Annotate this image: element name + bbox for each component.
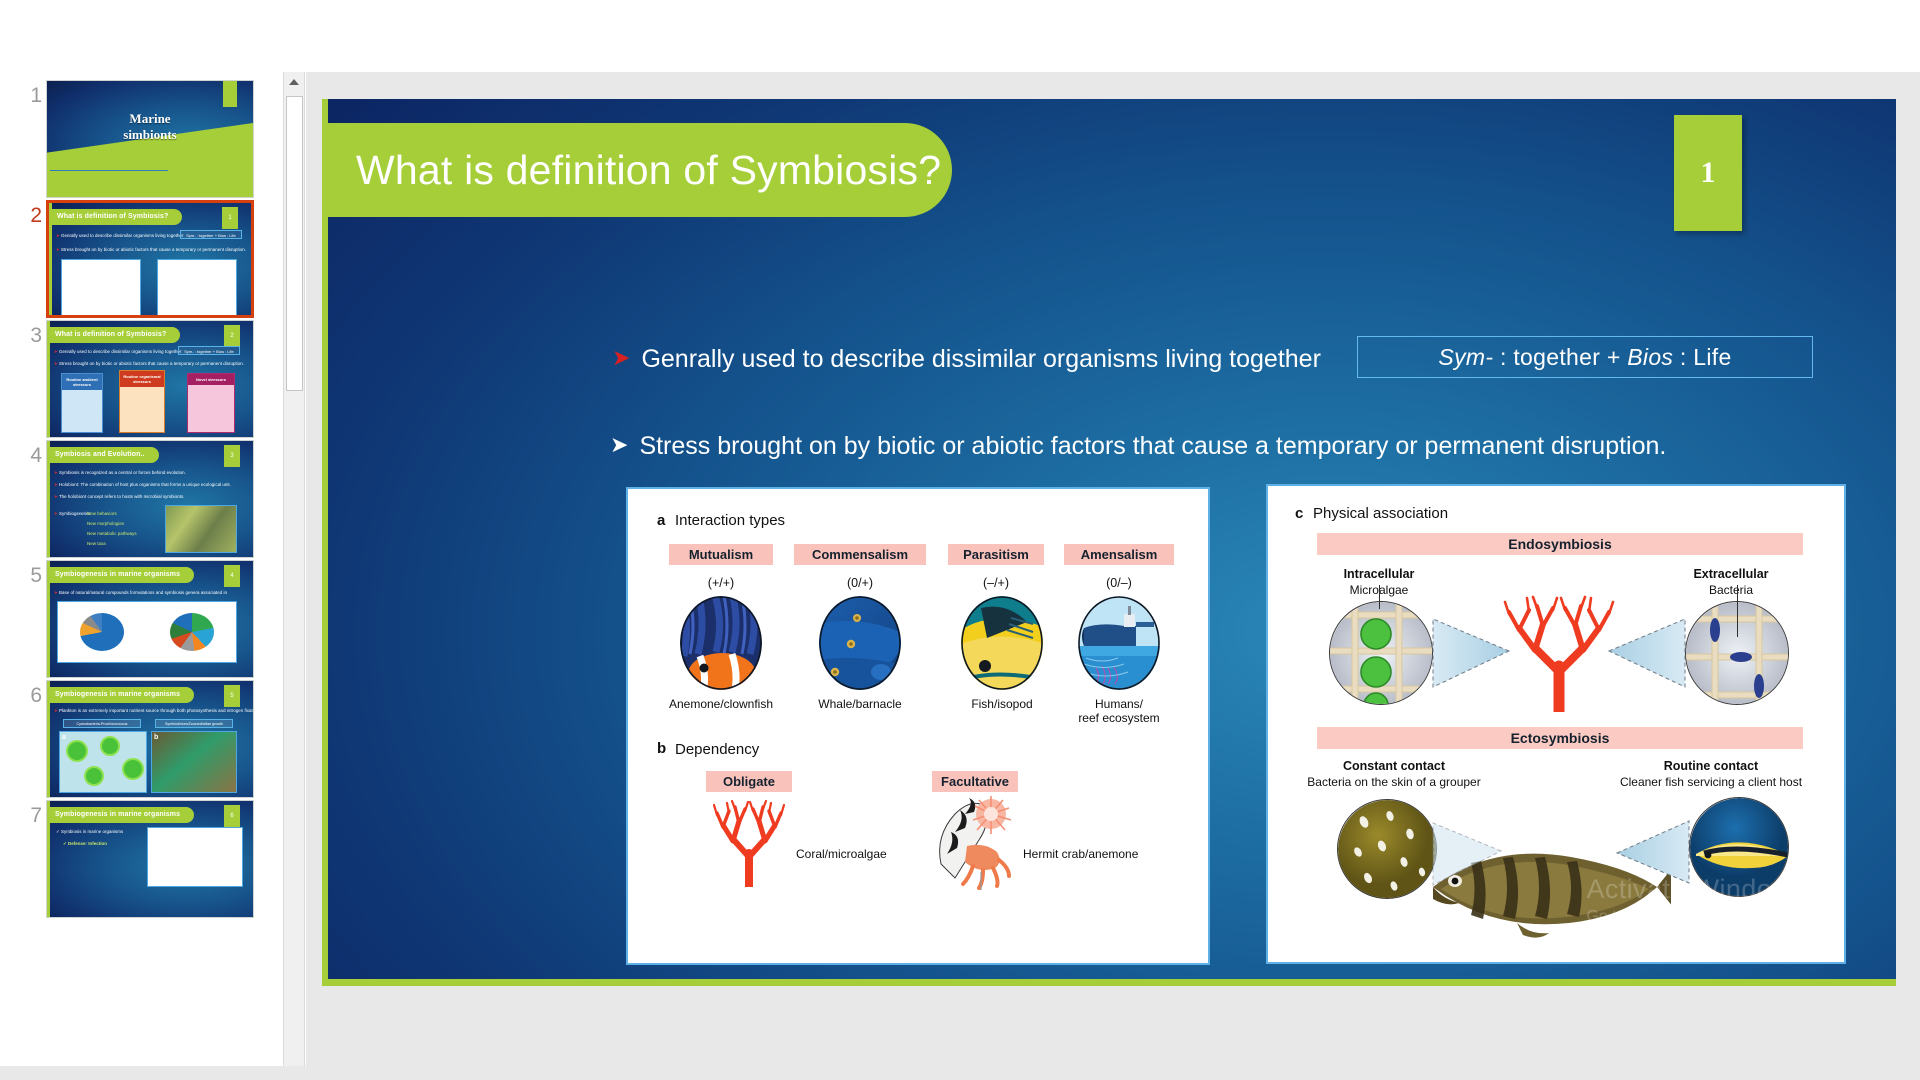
ship-reef-illustration xyxy=(1078,596,1160,690)
thumb-card-head: Routine ambient stressors xyxy=(62,374,102,390)
thumbnail-number: 4 xyxy=(16,444,42,468)
thumbnail-number: 3 xyxy=(16,324,42,348)
thumb-subitem: New behaviors xyxy=(87,511,117,516)
thumb-image-letter: b xyxy=(154,734,158,741)
bullet-text-2: Stress brought on by biotic or abiotic f… xyxy=(639,430,1666,462)
endo-right-bold-label: Extracellular xyxy=(1651,567,1811,581)
thumbnail-number: 5 xyxy=(16,564,42,588)
thumb-subitem: New taxa xyxy=(87,541,106,546)
interaction-caption-amensalism: Humans/ reef ecosystem xyxy=(1059,697,1179,725)
thumbnail-item[interactable]: 5 Symbiogenesis in marine organisms 4 ➤ … xyxy=(0,552,283,672)
thumbnail-item[interactable]: 7 Symbiogenesis in marine organisms 6 ✓ … xyxy=(0,792,283,912)
thumbnail-item[interactable]: 1 Marine simbionts xyxy=(0,72,283,192)
thumb-bullet-line: ➤ Symbiosis is recognized as a central o… xyxy=(54,470,186,476)
thumb-bullet-line: ➤ The holobiont concept refers to hosts … xyxy=(54,494,184,500)
slide-title-pill[interactable]: What is definition of Symbiosis? xyxy=(328,123,952,217)
thumb-bullet-text: The holobiont concept refers to hosts wi… xyxy=(59,494,184,499)
thumb-sym-text: Sym- : together + Bios : Life xyxy=(181,231,241,240)
thumb-canvas: Marine simbionts xyxy=(47,81,253,197)
cleaner-fish-circle xyxy=(1689,797,1789,897)
clownfish-anemone-photo xyxy=(680,596,762,690)
ectosymbiosis-band: Ectosymbiosis xyxy=(1317,727,1803,749)
scrollbar-thumb[interactable] xyxy=(286,96,303,391)
thumb-pie-chart-1 xyxy=(80,613,124,651)
thumb-bullet-line: ➤ Genrally used to describe dissimilar o… xyxy=(56,233,183,239)
endo-left-bold-label: Intracellular xyxy=(1299,567,1459,581)
thumbnail-number: 6 xyxy=(16,684,42,708)
bullet-row-1[interactable]: ➤ Genrally used to describe dissimilar o… xyxy=(612,343,1321,375)
dependency-chip-obligate: Obligate xyxy=(706,771,792,792)
thumb-subhead: ➤ Symbiogenesis: xyxy=(54,511,91,517)
etymology-box[interactable]: Sym- : together + Bios : Life xyxy=(1357,336,1813,378)
etymology-bios-italic: Bios xyxy=(1627,344,1673,370)
thumbnail-slide-3[interactable]: What is definition of Symbiosis? 2 ➤ Gen… xyxy=(46,320,254,438)
thumb-bullet-text: Holobiont: The combination of host plus … xyxy=(59,482,231,487)
thumb-sym-box: Sym- : together + Bios : Life xyxy=(180,230,242,239)
thumbnail-slide-2[interactable]: What is definition of Symbiosis? 1 ➤ Gen… xyxy=(46,200,254,318)
thumbnail-scrollbar[interactable] xyxy=(283,72,305,1080)
thumbnail-slide-1[interactable]: Marine simbionts xyxy=(46,80,254,198)
thumb-bullet-text: Stress brought on by biotic or abiotic f… xyxy=(61,247,246,252)
interaction-signs-mutualism: (+/+) xyxy=(669,576,773,590)
triangle-up-icon xyxy=(289,79,299,85)
page-title: What is definition of Symbiosis? xyxy=(328,147,941,194)
endo-right-leader-line xyxy=(1737,585,1738,637)
thumb-check-line: ✓ Symbiosis in marine organisms xyxy=(56,829,123,835)
thumb-chip-text: Cyanobacteria-Prochlorococcus xyxy=(64,720,140,729)
panel-a-letter: a xyxy=(657,512,665,529)
fish-isopod-photo xyxy=(961,596,1043,690)
thumb-title-line-2: simbionts xyxy=(47,127,253,143)
title-rule xyxy=(50,170,168,171)
thumb-canvas: Symbiogenesis in marine organisms 6 ✓ Sy… xyxy=(47,801,253,917)
current-slide[interactable]: What is definition of Symbiosis? 1 ➤ Gen… xyxy=(322,99,1896,986)
panel-c-letter: c xyxy=(1295,505,1303,522)
endo-right-magnifier-funnel xyxy=(1607,619,1687,689)
thumb-canvas: Symbiosis and Evolution.. 3 ➤ Symbiosis … xyxy=(47,441,253,557)
thumb-bullet-text: Base of natural/natural compounds formul… xyxy=(59,590,227,595)
thumb-title-line-1: Marine xyxy=(47,111,253,127)
thumbnail-slide-4[interactable]: Symbiosis and Evolution.. 3 ➤ Symbiosis … xyxy=(46,440,254,558)
thumb-card-head: Novel stressors xyxy=(188,374,234,385)
thumbnail-number: 1 xyxy=(16,84,42,108)
thumb-bullet-line: ➤ Base of natural/natural compounds form… xyxy=(54,590,227,596)
slide-bottom-green-edge xyxy=(322,979,1896,986)
interaction-signs-commensalism: (0/+) xyxy=(794,576,926,590)
thumb-bullet-text: Symbiosis is recognized as a central or … xyxy=(59,470,186,475)
interaction-chip-commensalism: Commensalism xyxy=(794,544,926,565)
figure-right-canvas: c Physical association Endosymbiosis Int… xyxy=(1271,489,1841,959)
panel-b-title: Dependency xyxy=(675,741,759,758)
figure-panel-right[interactable]: c Physical association Endosymbiosis Int… xyxy=(1266,484,1846,964)
endo-left-leader-line xyxy=(1379,585,1380,609)
powerpoint-window: 1 Marine simbionts 2 What is d xyxy=(0,0,1920,1080)
thumb-subhead-text: Symbiogenesis: xyxy=(59,511,91,516)
thumb-bullet-text: Stress brought on by biotic or abiotic f… xyxy=(59,361,244,366)
ecto-left-sub-label: Bacteria on the skin of a grouper xyxy=(1279,775,1509,789)
thumb-badge xyxy=(223,81,237,107)
thumb-chip-text: Symbiodinium/Zooxanthellae growth xyxy=(156,720,232,729)
thumbnail-slide-7[interactable]: Symbiogenesis in marine organisms 6 ✓ Sy… xyxy=(46,800,254,918)
panel-c-title: Physical association xyxy=(1313,505,1448,522)
thumb-canvas: Symbiogenesis in marine organisms 5 ➤ Pl… xyxy=(47,681,253,797)
endo-left-magnifier-funnel xyxy=(1431,619,1511,689)
thumb-title-text: Symbiosis and Evolution.. xyxy=(49,447,159,463)
thumb-title-text: Symbiogenesis in marine organisms xyxy=(49,567,194,583)
etymology-bios-rest: : Life xyxy=(1673,344,1731,370)
thumb-chip-left: Cyanobacteria-Prochlorococcus xyxy=(63,719,141,728)
ship-reef-photo xyxy=(1078,596,1160,690)
thumb-page-badge: 1 xyxy=(222,207,238,229)
thumbnail-number: 2 xyxy=(16,204,42,228)
top-band xyxy=(0,0,1920,72)
interaction-chip-amensalism: Amensalism xyxy=(1064,544,1174,565)
dependency-caption-obligate: Coral/microalgae xyxy=(796,847,936,861)
thumb-card-organismal: Routine organismal stressors xyxy=(119,370,165,433)
thumb-bullet-line: ➤ Stress brought on by biotic or abiotic… xyxy=(54,361,244,367)
thumbnail-item[interactable]: 2 What is definition of Symbiosis? 1 ➤ G… xyxy=(0,192,283,312)
thumb-bullet-line: ➤ Genrally used to describe dissimilar o… xyxy=(54,349,181,355)
interaction-caption-parasitism: Fish/isopod xyxy=(942,697,1062,711)
panel-b-letter: b xyxy=(657,740,666,757)
whale-barnacle-photo xyxy=(819,596,901,690)
ecto-left-magnifier-funnel xyxy=(1431,821,1503,887)
cell-with-green-microalgae xyxy=(1329,601,1433,705)
thumb-title-text: Symbiogenesis in marine organisms xyxy=(49,687,194,703)
thumb-card-ambient: Routine ambient stressors xyxy=(61,373,103,433)
thumb-figure-left xyxy=(61,259,141,315)
thumb-canvas: What is definition of Symbiosis? 2 ➤ Gen… xyxy=(47,321,253,437)
endo-right-sub-label: Bacteria xyxy=(1651,583,1811,597)
fish-isopod-illustration xyxy=(961,596,1043,690)
thumbnail-item[interactable]: 6 Symbiogenesis in marine organisms 5 ➤ … xyxy=(0,672,283,792)
thumb-canvas: What is definition of Symbiosis? 1 ➤ Gen… xyxy=(49,203,251,315)
figure-left-canvas: a Interaction types Mutualism Commensali… xyxy=(631,492,1205,960)
thumb-page-badge: 6 xyxy=(224,805,240,827)
thumb-page-badge: 3 xyxy=(224,445,240,467)
thumb-subitem: New morphologies xyxy=(87,521,124,526)
ecto-right-magnifier-funnel xyxy=(1615,819,1691,885)
thumbnail-slide-5[interactable]: Symbiogenesis in marine organisms 4 ➤ Ba… xyxy=(46,560,254,678)
slide-thumbnail-rail[interactable]: 1 Marine simbionts 2 What is d xyxy=(0,72,283,1080)
thumb-chip-right: Symbiodinium/Zooxanthellae growth xyxy=(155,719,233,728)
thumb-bullet-text: Genrally used to describe dissimilar org… xyxy=(61,233,183,238)
thumbnail-item[interactable]: 4 Symbiosis and Evolution.. 3 ➤ Symbiosi… xyxy=(0,432,283,552)
endosymbiosis-band: Endosymbiosis xyxy=(1317,533,1803,555)
thumbnail-slide-6[interactable]: Symbiogenesis in marine organisms 5 ➤ Pl… xyxy=(46,680,254,798)
interaction-caption-mutualism: Anemone/clownfish xyxy=(661,697,781,711)
arrow-bullet-red-icon: ➤ xyxy=(612,343,630,373)
thumb-canvas: Symbiogenesis in marine organisms 4 ➤ Ba… xyxy=(47,561,253,677)
red-coral-illustration xyxy=(1503,594,1615,712)
thumb-charts-area xyxy=(57,601,237,663)
thumb-bullet-line: ➤ Holobiont: The combination of host plu… xyxy=(54,482,231,488)
scroll-up-button[interactable] xyxy=(284,72,304,92)
interaction-signs-parasitism: (–/+) xyxy=(948,576,1044,590)
slide-number-badge: 1 xyxy=(1674,115,1742,231)
dependency-caption-facultative: Hermit crab/anemone xyxy=(1023,847,1183,861)
dependency-chip-facultative: Facultative xyxy=(932,771,1018,792)
thumb-page-badge: 5 xyxy=(224,685,240,707)
thumb-page-badge: 4 xyxy=(224,565,240,587)
thumb-micrograph-b: b xyxy=(151,731,237,793)
thumb-figure-right xyxy=(157,259,237,315)
thumb-subitem: New metabolic pathways xyxy=(87,531,137,536)
etymology-sym-rest: : together + xyxy=(1493,344,1627,370)
thumb-bullet-text: Genrally used to describe dissimilar org… xyxy=(59,349,181,354)
interaction-chip-mutualism: Mutualism xyxy=(669,544,773,565)
thumb-sym-box: Sym- : together + Bios : Life xyxy=(178,346,240,355)
thumb-sym-text: Sym- : together + Bios : Life xyxy=(179,347,239,356)
thumb-bullet-line: ➤ Stress brought on by biotic or abiotic… xyxy=(56,247,246,253)
clownfish-anemone-illustration xyxy=(680,596,762,690)
interaction-caption-commensalism: Whale/barnacle xyxy=(800,697,920,711)
slide-editing-stage[interactable]: What is definition of Symbiosis? 1 ➤ Gen… xyxy=(306,72,1920,1080)
arrow-bullet-white-icon: ➤ xyxy=(610,430,628,460)
thumb-micrograph-a: a xyxy=(59,731,147,793)
thumbnail-item[interactable]: 3 What is definition of Symbiosis? 2 ➤ G… xyxy=(0,312,283,432)
thumb-title-text: What is definition of Symbiosis? xyxy=(49,327,180,343)
figure-panel-left[interactable]: a Interaction types Mutualism Commensali… xyxy=(626,487,1210,965)
bullet-text-1: Genrally used to describe dissimilar org… xyxy=(641,343,1320,375)
whale-barnacle-illustration xyxy=(819,596,901,690)
ecto-right-sub-label: Cleaner fish servicing a client host xyxy=(1593,775,1829,789)
ecto-right-bold-label: Routine contact xyxy=(1601,759,1821,773)
thumb-check-text: Defense: Infection xyxy=(68,841,107,846)
ecto-left-bold-label: Constant contact xyxy=(1289,759,1499,773)
thumb-bullet-line: ➤ Plankton is an extremely important nut… xyxy=(54,708,253,714)
panel-a-title: Interaction types xyxy=(675,512,785,529)
interaction-chip-parasitism: Parasitism xyxy=(948,544,1044,565)
bullet-row-2[interactable]: ➤ Stress brought on by biotic or abiotic… xyxy=(610,430,1666,462)
thumb-pie-chart-2 xyxy=(170,613,214,651)
thumb-diagram xyxy=(147,827,243,887)
thumb-image-letter: a xyxy=(62,734,66,741)
thumb-check-text: Symbiosis in marine organisms xyxy=(61,829,123,834)
hermit-crab-anemone-illustration xyxy=(929,792,1021,890)
red-coral-illustration xyxy=(713,799,785,887)
thumb-title-text: Marine simbionts xyxy=(47,111,253,143)
thumb-card-head: Routine organismal stressors xyxy=(120,371,164,387)
thumb-title-text: Symbiogenesis in marine organisms xyxy=(49,807,194,823)
slide-left-green-edge xyxy=(322,99,328,986)
interaction-signs-amensalism: (0/–) xyxy=(1064,576,1174,590)
thumb-lichen-photo xyxy=(165,505,237,553)
bottom-band xyxy=(0,1066,1920,1080)
thumb-card-novel: Novel stressors xyxy=(187,373,235,433)
thumb-title-text: What is definition of Symbiosis? xyxy=(51,209,182,225)
thumb-bullet-text: Plankton is an extremely important nutri… xyxy=(59,708,253,713)
thumbnail-number: 7 xyxy=(16,804,42,828)
thumb-page-badge: 2 xyxy=(224,325,240,347)
etymology-sym-italic: Sym- xyxy=(1438,344,1493,370)
thumb-check-line: ✓ Defense: Infection xyxy=(63,841,107,847)
